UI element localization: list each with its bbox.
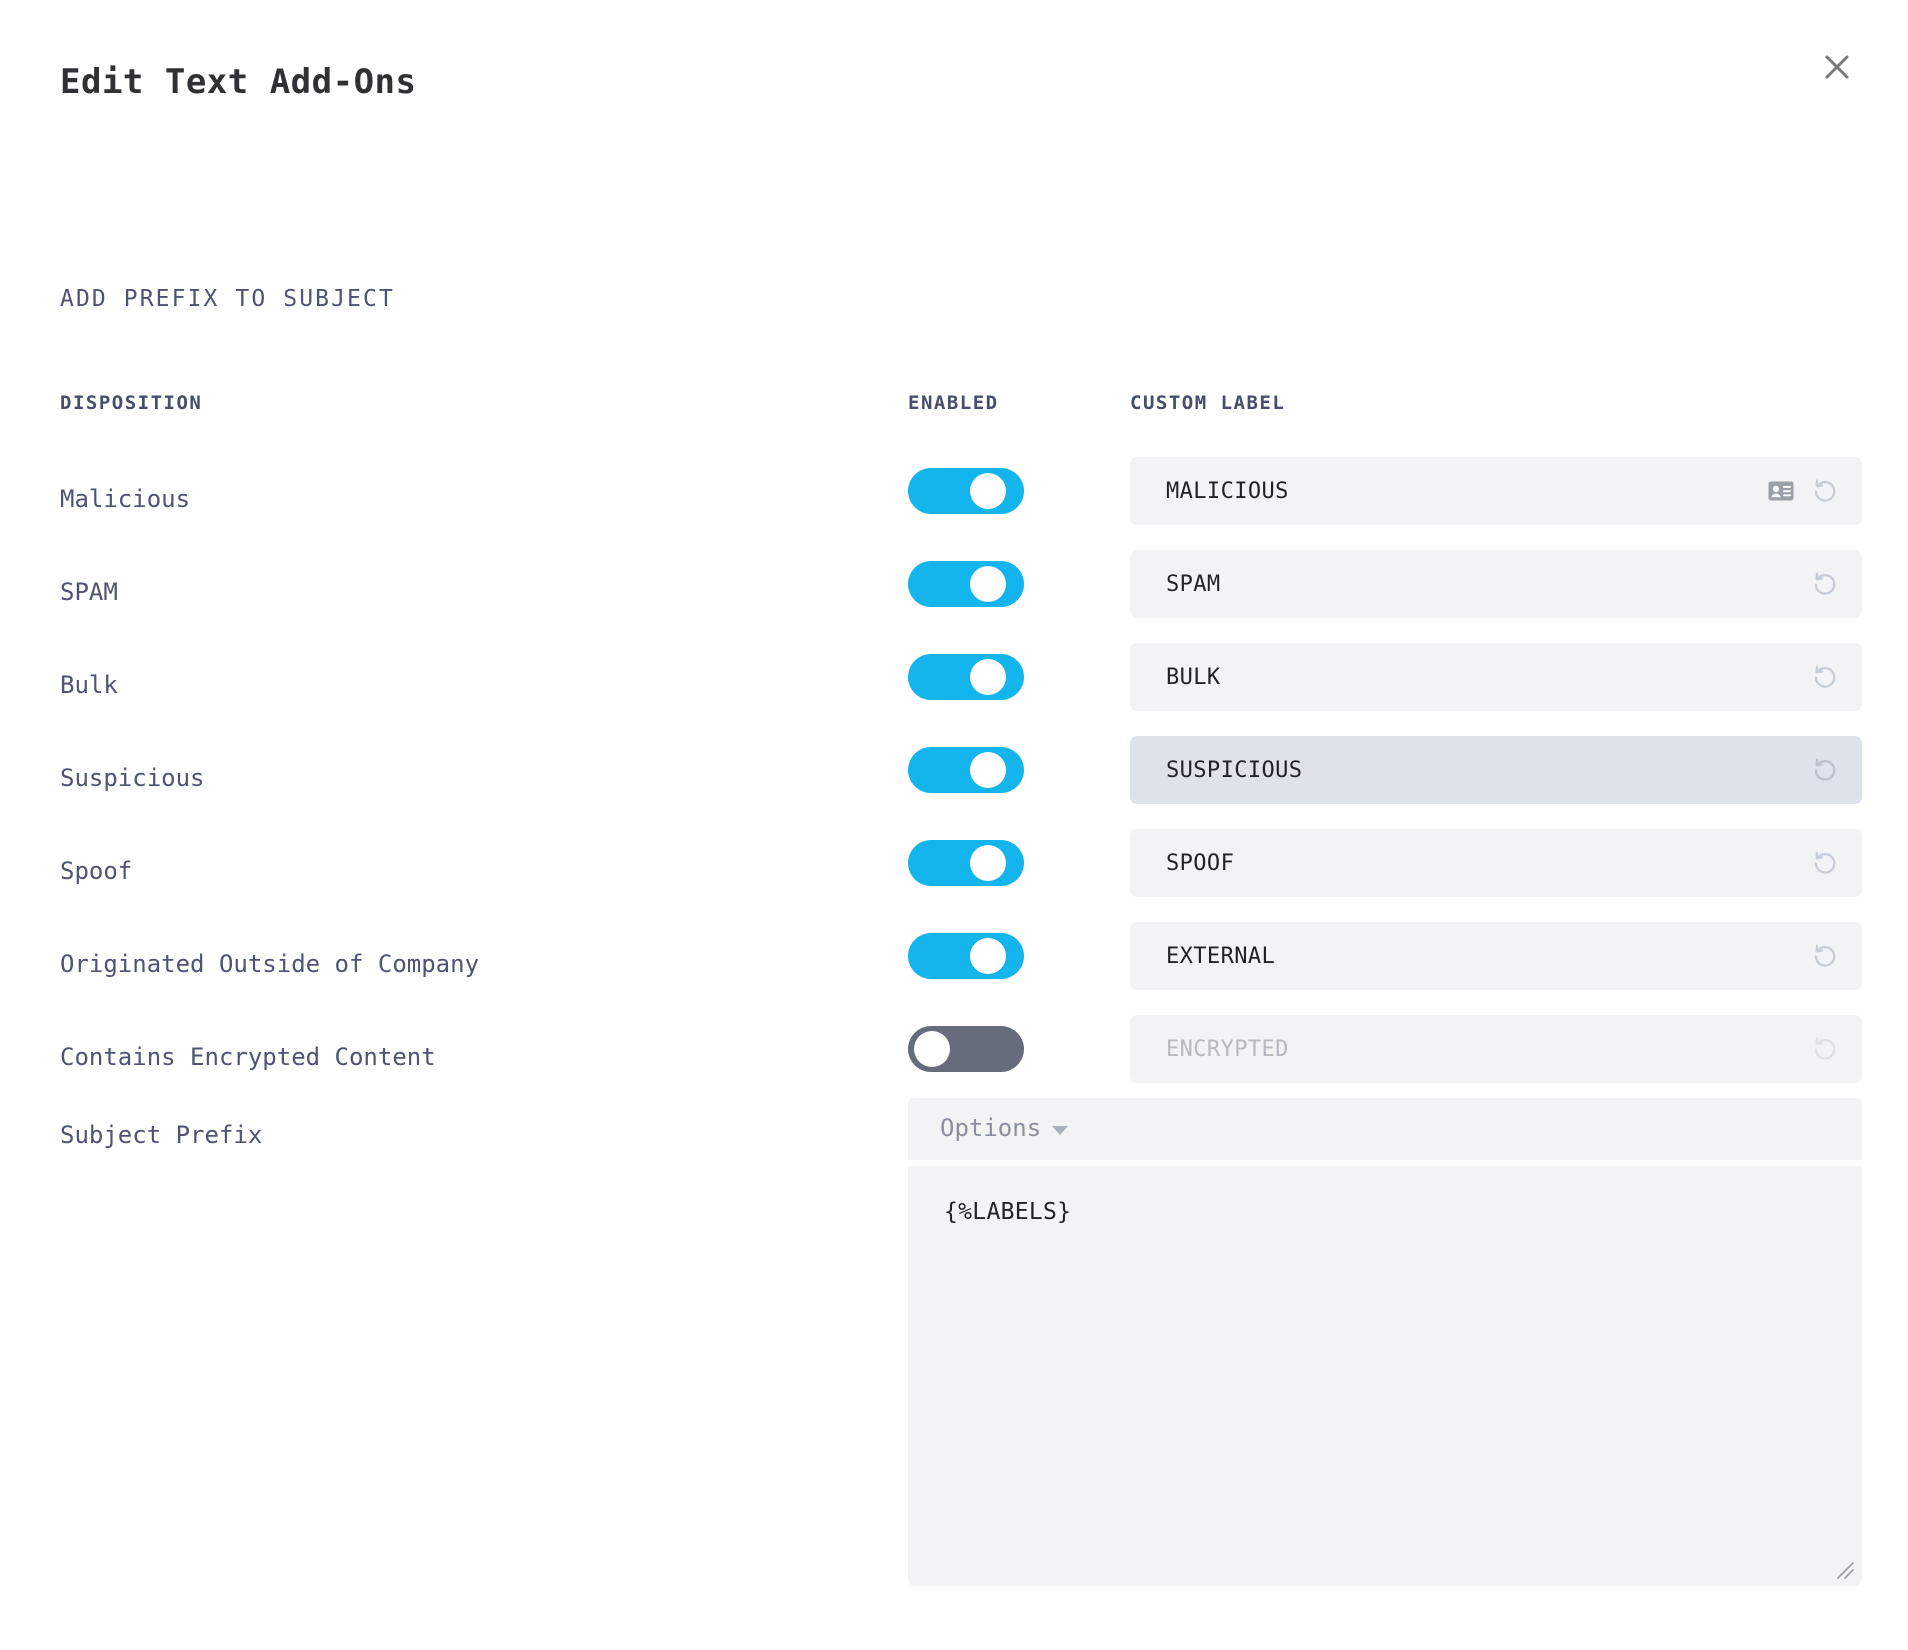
field-icon-group bbox=[1766, 457, 1840, 525]
close-icon bbox=[1822, 52, 1852, 82]
table-row: Suspicious SUSPICIOUS bbox=[0, 734, 1908, 827]
enabled-toggle[interactable] bbox=[908, 561, 1024, 607]
toggle-knob bbox=[970, 845, 1006, 881]
table-row: Bulk BULK bbox=[0, 641, 1908, 734]
custom-label-value: SPAM bbox=[1166, 572, 1221, 597]
enabled-toggle[interactable] bbox=[908, 747, 1024, 793]
field-icon-group bbox=[1810, 550, 1840, 618]
chevron-down-icon bbox=[1052, 1126, 1068, 1135]
field-icon-group bbox=[1810, 736, 1840, 804]
table-row: SPAM SPAM bbox=[0, 548, 1908, 641]
table-row: Spoof SPOOF bbox=[0, 827, 1908, 920]
custom-label-field[interactable]: EXTERNAL bbox=[1130, 922, 1862, 990]
field-icon-group bbox=[1810, 1015, 1840, 1083]
reset-icon bbox=[1810, 1034, 1840, 1064]
custom-label-value: BULK bbox=[1166, 665, 1221, 690]
reset-icon[interactable] bbox=[1810, 569, 1840, 599]
toggle-knob bbox=[970, 752, 1006, 788]
options-dropdown-label: Options bbox=[940, 1114, 1041, 1142]
enabled-toggle[interactable] bbox=[908, 840, 1024, 886]
reset-icon[interactable] bbox=[1810, 476, 1840, 506]
table-row: Malicious MALICIOUS bbox=[0, 455, 1908, 548]
toggle-knob bbox=[970, 659, 1006, 695]
enabled-toggle[interactable] bbox=[908, 468, 1024, 514]
close-button[interactable] bbox=[1814, 44, 1860, 90]
disposition-label: Bulk bbox=[60, 671, 118, 699]
section-title: ADD PREFIX TO SUBJECT bbox=[60, 286, 395, 312]
subject-prefix-toolbar: Options bbox=[908, 1098, 1862, 1160]
disposition-table-body: Malicious MALICIOUS bbox=[0, 455, 1908, 1106]
custom-label-value: SPOOF bbox=[1166, 851, 1234, 876]
subject-prefix-label: Subject Prefix bbox=[60, 1121, 262, 1149]
field-icon-group bbox=[1810, 643, 1840, 711]
contact-card-icon[interactable] bbox=[1766, 476, 1796, 506]
custom-label-value: EXTERNAL bbox=[1166, 944, 1275, 969]
reset-icon[interactable] bbox=[1810, 848, 1840, 878]
field-icon-group bbox=[1810, 829, 1840, 897]
column-header-custom-label: CUSTOM LABEL bbox=[1130, 392, 1285, 414]
toggle-knob bbox=[914, 1031, 950, 1067]
subject-prefix-textarea[interactable]: {%LABELS} bbox=[908, 1166, 1862, 1586]
toggle-knob bbox=[970, 566, 1006, 602]
disposition-label: Contains Encrypted Content bbox=[60, 1043, 436, 1071]
disposition-label: Suspicious bbox=[60, 764, 205, 792]
field-icon-group bbox=[1810, 922, 1840, 990]
toggle-knob bbox=[970, 473, 1006, 509]
custom-label-field[interactable]: SPOOF bbox=[1130, 829, 1862, 897]
options-dropdown-button[interactable]: Options bbox=[940, 1114, 1068, 1142]
column-header-disposition: DISPOSITION bbox=[60, 392, 202, 414]
disposition-label: Originated Outside of Company bbox=[60, 950, 479, 978]
column-header-enabled: ENABLED bbox=[908, 392, 999, 414]
custom-label-field[interactable]: MALICIOUS bbox=[1130, 457, 1862, 525]
reset-icon[interactable] bbox=[1810, 755, 1840, 785]
custom-label-field[interactable]: SUSPICIOUS bbox=[1130, 736, 1862, 804]
subject-prefix-value: {%LABELS} bbox=[944, 1199, 1071, 1225]
custom-label-value: ENCRYPTED bbox=[1166, 1037, 1289, 1062]
custom-label-value: MALICIOUS bbox=[1166, 479, 1289, 504]
enabled-toggle[interactable] bbox=[908, 654, 1024, 700]
custom-label-field[interactable]: BULK bbox=[1130, 643, 1862, 711]
custom-label-value: SUSPICIOUS bbox=[1166, 758, 1302, 783]
enabled-toggle[interactable] bbox=[908, 1026, 1024, 1072]
disposition-label: Spoof bbox=[60, 857, 132, 885]
table-row: Originated Outside of Company EXTERNAL bbox=[0, 920, 1908, 1013]
disposition-label: SPAM bbox=[60, 578, 118, 606]
custom-label-field[interactable]: SPAM bbox=[1130, 550, 1862, 618]
reset-icon[interactable] bbox=[1810, 941, 1840, 971]
disposition-label: Malicious bbox=[60, 485, 190, 513]
toggle-knob bbox=[970, 938, 1006, 974]
custom-label-field: ENCRYPTED bbox=[1130, 1015, 1862, 1083]
table-header: DISPOSITION ENABLED CUSTOM LABEL bbox=[0, 392, 1908, 422]
enabled-toggle[interactable] bbox=[908, 933, 1024, 979]
reset-icon[interactable] bbox=[1810, 662, 1840, 692]
dialog-header: Edit Text Add-Ons bbox=[0, 0, 1908, 150]
page-title: Edit Text Add-Ons bbox=[60, 62, 417, 102]
table-row: Contains Encrypted Content ENCRYPTED bbox=[0, 1013, 1908, 1106]
resize-handle-icon[interactable] bbox=[1834, 1559, 1856, 1581]
